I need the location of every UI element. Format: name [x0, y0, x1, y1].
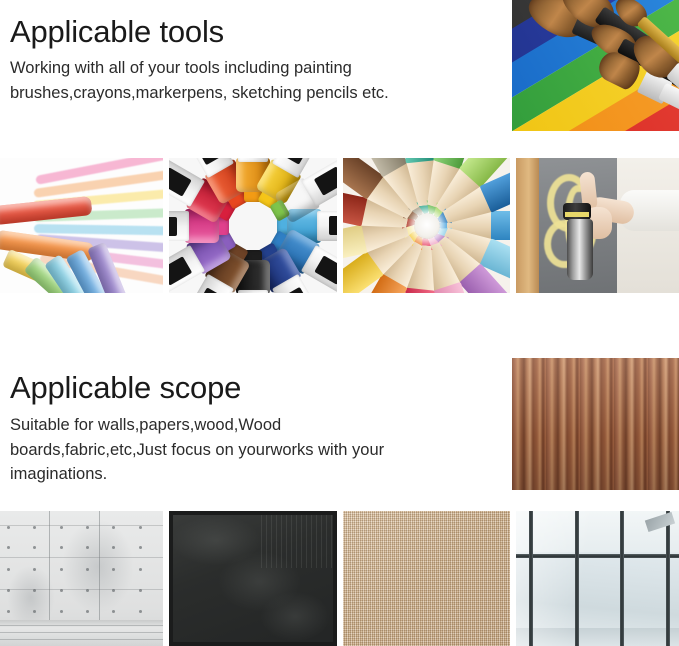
marker-color-wheel	[169, 158, 337, 293]
chalk-sticks	[0, 158, 163, 293]
wood-sheen	[512, 358, 679, 490]
concrete-floor	[0, 620, 163, 646]
image-concrete-wall	[0, 511, 163, 646]
spray-can	[567, 219, 593, 280]
image-burlap-fabric	[343, 511, 510, 646]
spray-band	[565, 212, 589, 217]
image-blackboard	[169, 511, 337, 646]
image-paint-brushes-on-rainbow-paint	[512, 0, 679, 131]
section-body-scope: Suitable for walls,papers,wood,Wood boar…	[10, 413, 440, 487]
image-glass-wall	[516, 511, 679, 646]
wood-frame-edge	[516, 158, 539, 293]
image-marker-pens	[169, 158, 337, 293]
image-colored-pencils	[343, 158, 510, 293]
blackboard-frame	[169, 511, 337, 646]
section-heading-tools: Applicable tools	[10, 14, 224, 50]
section-body-tools: Working with all of your tools including…	[10, 56, 440, 105]
brush-cluster	[512, 0, 679, 131]
image-chalk-pastels	[0, 158, 163, 293]
infographic-page: Applicable tools Working with all of you…	[0, 0, 679, 646]
glass-reflection	[516, 511, 679, 646]
image-wood-grain-texture	[512, 358, 679, 490]
pencil-center-hub	[414, 213, 440, 239]
section-heading-scope: Applicable scope	[10, 370, 241, 406]
image-spray-paint	[516, 158, 679, 293]
